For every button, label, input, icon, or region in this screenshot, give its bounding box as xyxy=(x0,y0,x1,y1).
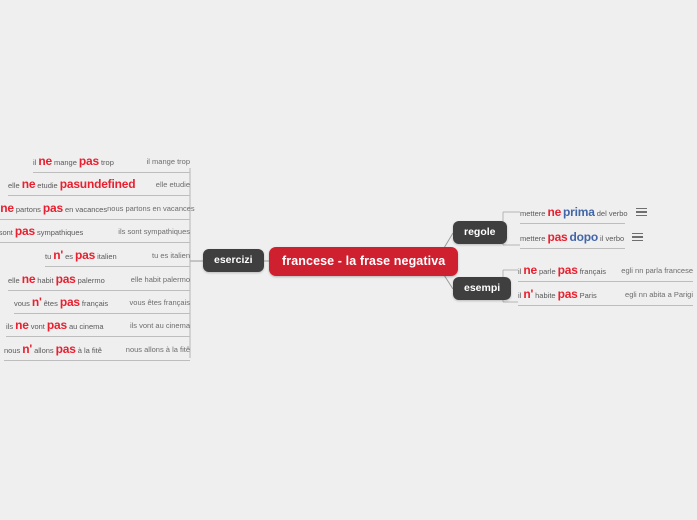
esercizio-row-9-w3: à la fitê xyxy=(78,346,102,355)
esercizio-row-2-translation: elle etudie xyxy=(156,180,190,189)
rule-item-2-pre: mettere xyxy=(520,234,545,243)
esempio-row-2[interactable]: il n' habite pas Paris egli nn abita a P… xyxy=(518,283,693,306)
esercizio-row-3-translation: nous partons en vacances xyxy=(107,204,195,213)
esercizio-row-2-w2: etudie xyxy=(37,181,57,190)
esercizio-row-2-phrase: elle ne etudie pasundefined xyxy=(8,177,137,191)
esercizio-row-2-kw2: pasundefined xyxy=(60,177,136,191)
esercizio-row-4-kw2: pas xyxy=(15,224,35,238)
esercizio-row-5-w3: italien xyxy=(97,252,117,261)
esercizio-row-6-w3: palermo xyxy=(78,276,105,285)
branch-node-esempi-label: esempi xyxy=(464,282,500,294)
esercizio-row-1-translation: il mange trop xyxy=(147,157,190,166)
esempio-row-1-kw1: ne xyxy=(523,263,537,277)
esempio-row-2-translation: egli nn abita a Parigi xyxy=(625,290,693,299)
esempio-row-1-w3: français xyxy=(580,267,606,276)
esercizio-row-1-w3: trop xyxy=(101,158,114,167)
esercizio-row-4-w2: sont xyxy=(0,228,13,237)
esercizio-row-1-kw1: ne xyxy=(38,154,52,168)
esercizio-row-8-w1: ils xyxy=(6,322,13,331)
esercizio-row-9[interactable]: nous n' allons pas à la fitê nous allons… xyxy=(4,338,190,361)
esercizio-row-6-w1: elle xyxy=(8,276,20,285)
rule-item-1-keyword-ne: ne xyxy=(547,205,561,219)
esercizio-row-4-translation: ils sont sympathiques xyxy=(118,227,190,236)
rule-item-1-phrase: mettere ne prima del verbo xyxy=(520,205,628,219)
branch-node-regole-label: regole xyxy=(464,226,496,238)
esercizio-row-7-kw2: pas xyxy=(60,295,80,309)
esercizio-row-9-phrase: nous n' allons pas à la fitê xyxy=(4,342,102,356)
rule-item-2-keyword-dopo: dopo xyxy=(570,230,599,244)
branch-node-regole[interactable]: regole xyxy=(453,221,507,244)
branch-node-esercizi[interactable]: esercizi xyxy=(203,249,264,272)
esercizio-row-5-w1: tu xyxy=(45,252,51,261)
esercizio-row-6-kw2: pas xyxy=(56,272,76,286)
esercizio-row-8-w2: vont xyxy=(31,322,45,331)
esempio-row-2-kw2: pas xyxy=(558,287,578,301)
esempio-row-2-kw1: n' xyxy=(523,287,533,301)
mindmap-canvas: francese - la frase negativa regole mett… xyxy=(0,0,697,520)
central-node-label: francese - la frase negativa xyxy=(282,254,445,268)
esercizio-row-3-w3: en vacances xyxy=(65,205,107,214)
rule-item-2-post: il verbo xyxy=(600,234,624,243)
esercizio-row-5-w2: es xyxy=(65,252,73,261)
esercizio-row-7-phrase: vous n' êtes pas français xyxy=(14,295,108,309)
esercizio-row-3-kw1: ne xyxy=(0,201,14,215)
esercizio-row-1-phrase: il ne mange pas trop xyxy=(33,154,114,168)
esempio-row-1-phrase: il ne parle pas français xyxy=(518,263,606,277)
esercizio-row-9-w1: nous xyxy=(4,346,20,355)
esercizio-row-7[interactable]: vous n' êtes pas français vous êtes fran… xyxy=(14,291,190,314)
esercizio-row-5[interactable]: tu n' es pas italien tu es italien xyxy=(45,244,190,267)
esercizio-row-3-phrase: nous ne partons pas en vacances xyxy=(0,201,107,215)
esempio-row-1-translation: egli nn parla francese xyxy=(621,266,693,275)
esercizio-row-2[interactable]: elle ne etudie pasundefined elle etudie xyxy=(8,173,190,196)
rule-item-2-keyword-pas: pas xyxy=(547,230,567,244)
esercizio-row-4-phrase: ils ne sont pas sympathiques xyxy=(0,224,83,238)
esercizio-row-6[interactable]: elle ne habit pas palermo elle habit pal… xyxy=(8,268,190,291)
esempio-row-2-w3: Paris xyxy=(580,291,597,300)
esercizio-row-7-kw1: n' xyxy=(32,295,42,309)
esercizio-row-6-kw1: ne xyxy=(22,272,36,286)
esempio-row-1-w1: il xyxy=(518,267,521,276)
esercizio-row-8-w3: au cinema xyxy=(69,322,104,331)
esercizio-row-5-kw2: pas xyxy=(75,248,95,262)
esempio-row-2-phrase: il n' habite pas Paris xyxy=(518,287,597,301)
esercizio-row-5-phrase: tu n' es pas italien xyxy=(45,248,117,262)
esercizio-row-9-kw1: n' xyxy=(22,342,32,356)
esercizio-row-6-w2: habit xyxy=(37,276,53,285)
esercizio-row-7-w1: vous xyxy=(14,299,30,308)
rule-item-2-phrase: mettere pas dopo il verbo xyxy=(520,230,624,244)
esercizio-row-3-kw2: pas xyxy=(43,201,63,215)
esercizio-row-9-kw2: pas xyxy=(56,342,76,356)
rule-item-2[interactable]: mettere pas dopo il verbo xyxy=(520,226,625,249)
esercizio-row-8-kw2: pas xyxy=(47,318,67,332)
esercizio-row-7-translation: vous êtes français xyxy=(130,298,190,307)
central-node[interactable]: francese - la frase negativa xyxy=(269,247,458,276)
esercizio-row-1-w1: il xyxy=(33,158,36,167)
esercizio-row-9-translation: nous allons à la fitê xyxy=(126,345,190,354)
esercizio-row-8-phrase: ils ne vont pas au cinema xyxy=(6,318,104,332)
esercizio-row-4-w3: sympathiques xyxy=(37,228,83,237)
esempio-row-2-w1: il xyxy=(518,291,521,300)
esercizio-row-1[interactable]: il ne mange pas trop il mange trop xyxy=(33,150,190,173)
esempio-row-2-w2: habite xyxy=(535,291,555,300)
esempio-row-1-w2: parle xyxy=(539,267,556,276)
esercizio-row-7-w2: êtes xyxy=(44,299,58,308)
esercizio-row-8[interactable]: ils ne vont pas au cinema ils vont au ci… xyxy=(6,314,190,337)
rule-item-1-keyword-prima: prima xyxy=(563,205,595,219)
branch-node-esempi[interactable]: esempi xyxy=(453,277,511,300)
esercizio-row-6-translation: elle habit palermo xyxy=(131,275,190,284)
esercizio-row-8-kw1: ne xyxy=(15,318,29,332)
esercizio-row-2-kw1: ne xyxy=(22,177,36,191)
rule-item-1[interactable]: mettere ne prima del verbo xyxy=(520,201,625,224)
esercizio-row-1-kw2: pas xyxy=(79,154,99,168)
esercizio-row-9-w2: allons xyxy=(34,346,54,355)
esercizio-row-7-w3: français xyxy=(82,299,108,308)
esercizio-row-3-w2: partons xyxy=(16,205,41,214)
rule-item-1-pre: mettere xyxy=(520,209,545,218)
esercizio-row-5-translation: tu es italien xyxy=(152,251,190,260)
esercizio-row-3[interactable]: nous ne partons pas en vacances nous par… xyxy=(0,197,190,220)
esercizio-row-6-phrase: elle ne habit pas palermo xyxy=(8,272,105,286)
esempio-row-1[interactable]: il ne parle pas français egli nn parla f… xyxy=(518,259,693,282)
esercizio-row-1-w2: mange xyxy=(54,158,77,167)
branch-node-esercizi-label: esercizi xyxy=(214,254,253,266)
esempio-row-1-kw2: pas xyxy=(558,263,578,277)
esercizio-row-5-kw1: n' xyxy=(53,248,63,262)
esercizio-row-8-translation: ils vont au cinema xyxy=(130,321,190,330)
esercizio-row-2-w1: elle xyxy=(8,181,20,190)
rule-item-1-post: del verbo xyxy=(597,209,628,218)
esercizio-row-4[interactable]: ils ne sont pas sympathiques ils sont sy… xyxy=(0,220,190,243)
